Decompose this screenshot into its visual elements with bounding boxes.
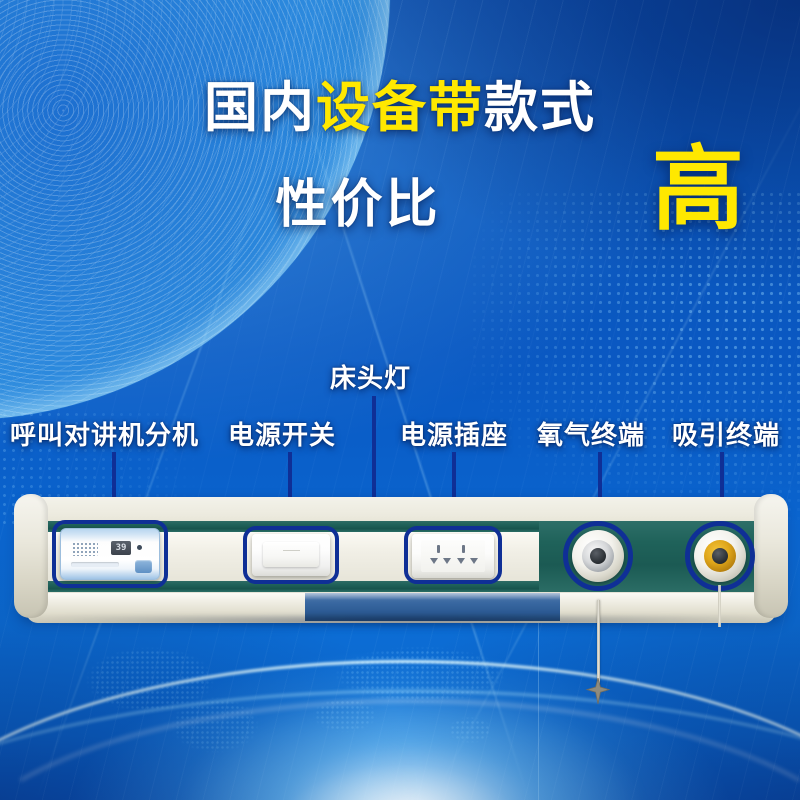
panel-end-cap-right [754, 494, 788, 618]
headline-emphasis: 高 [652, 144, 744, 236]
headline-block: 国内设备带款式 性价比 高 [0, 78, 800, 242]
callout-label-intercom: 呼叫对讲机分机 [10, 415, 199, 452]
callout-label-suction: 吸引终端 [672, 415, 780, 452]
headline-line-1: 国内设备带款式 [0, 78, 800, 138]
highlight-box-intercom [52, 520, 168, 588]
callout-label-oxygen: 氧气终端 [537, 415, 645, 452]
headline-part-3: 款式 [484, 78, 596, 138]
pull-cord[interactable] [597, 600, 600, 688]
highlight-circle-oxygen [563, 521, 633, 591]
callout-label-power-switch: 电源开关 [228, 415, 336, 452]
headline-line-2: 性价比 高 [0, 156, 800, 242]
headline-part-1: 国内 [204, 78, 316, 138]
promo-banner: 国内设备带款式 性价比 高 呼叫对讲机分机 电源开关 床头灯 电源插座 氧气终端… [0, 0, 800, 800]
headline-part-2: 设备带 [316, 78, 484, 138]
callout-label-bed-lamp: 床头灯 [330, 358, 411, 395]
highlight-box-power-socket [404, 526, 502, 584]
panel-drop-shadow [30, 617, 774, 629]
headline-subline: 性价比 [275, 162, 440, 237]
highlight-box-power-switch [243, 526, 339, 584]
callout-label-power-socket: 电源插座 [400, 415, 508, 452]
pull-cord-secondary[interactable] [718, 585, 721, 627]
pull-cord-handle-icon[interactable] [581, 678, 615, 704]
highlight-circle-suction [685, 521, 755, 591]
panel-end-cap-left [14, 494, 48, 618]
